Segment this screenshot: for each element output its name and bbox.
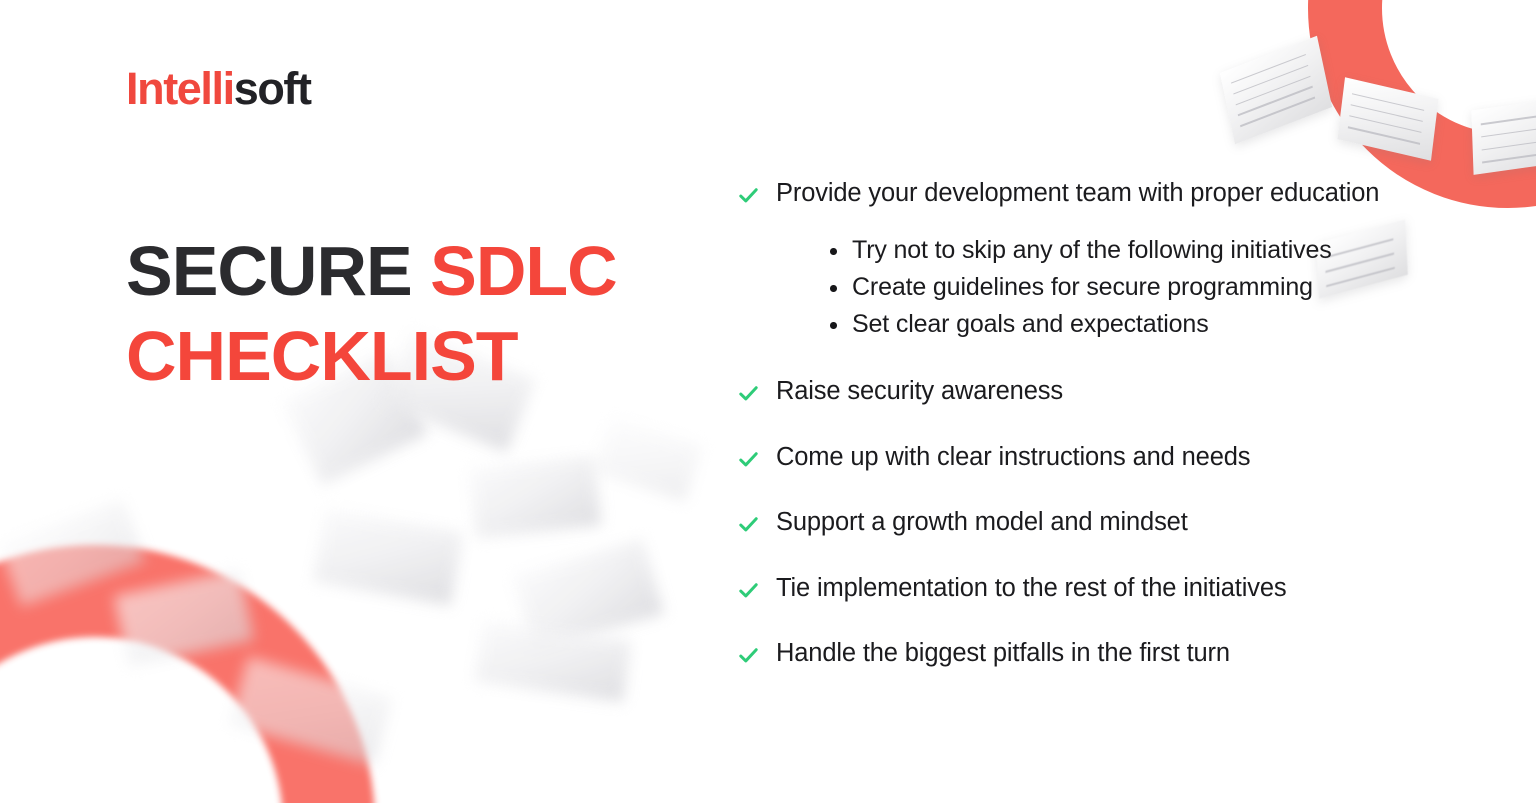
intellisoft-logo: Intellisoft [126, 66, 311, 111]
checklist-item-label: Handle the biggest pitfalls in the first… [776, 636, 1230, 671]
slide-content: Intellisoft SECURE SDLC CHECKLIST Provid… [0, 0, 1536, 803]
checklist-item[interactable]: Support a growth model and mindset [738, 505, 1438, 540]
page-title: SECURE SDLC CHECKLIST [126, 229, 726, 400]
checklist-item[interactable]: Raise security awareness [738, 374, 1438, 409]
title-segment-checklist: CHECKLIST [126, 317, 518, 395]
check-icon [738, 383, 759, 404]
slide-canvas: Intellisoft SECURE SDLC CHECKLIST Provid… [0, 0, 1536, 803]
checklist-sublist: Try not to skip any of the following ini… [828, 233, 1438, 342]
checklist-item-label: Raise security awareness [776, 374, 1063, 409]
checklist-item[interactable]: Come up with clear instructions and need… [738, 440, 1438, 475]
checklist-subitem[interactable]: Create guidelines for secure programming [828, 270, 1438, 305]
checklist-item-label: Provide your development team with prope… [776, 176, 1438, 211]
logo-text-secondary: soft [234, 63, 311, 114]
checklist: Provide your development team with prope… [738, 176, 1438, 672]
checklist-item[interactable]: Provide your development team with prope… [738, 176, 1438, 344]
checklist-item[interactable]: Tie implementation to the rest of the in… [738, 571, 1438, 606]
check-icon [738, 645, 759, 666]
checklist-subitem[interactable]: Set clear goals and expectations [828, 307, 1438, 342]
title-segment-sdlc: SDLC [430, 232, 617, 310]
check-icon [738, 185, 759, 206]
checklist-item-label: Support a growth model and mindset [776, 505, 1188, 540]
checklist-subitem[interactable]: Try not to skip any of the following ini… [828, 233, 1438, 268]
title-segment-secure: SECURE [126, 232, 430, 310]
logo-text-primary: Intelli [126, 63, 234, 114]
check-icon [738, 449, 759, 470]
check-icon [738, 514, 759, 535]
checklist-item-label: Come up with clear instructions and need… [776, 440, 1250, 475]
check-icon [738, 580, 759, 601]
checklist-item[interactable]: Handle the biggest pitfalls in the first… [738, 636, 1438, 671]
checklist-item-label: Tie implementation to the rest of the in… [776, 571, 1286, 606]
